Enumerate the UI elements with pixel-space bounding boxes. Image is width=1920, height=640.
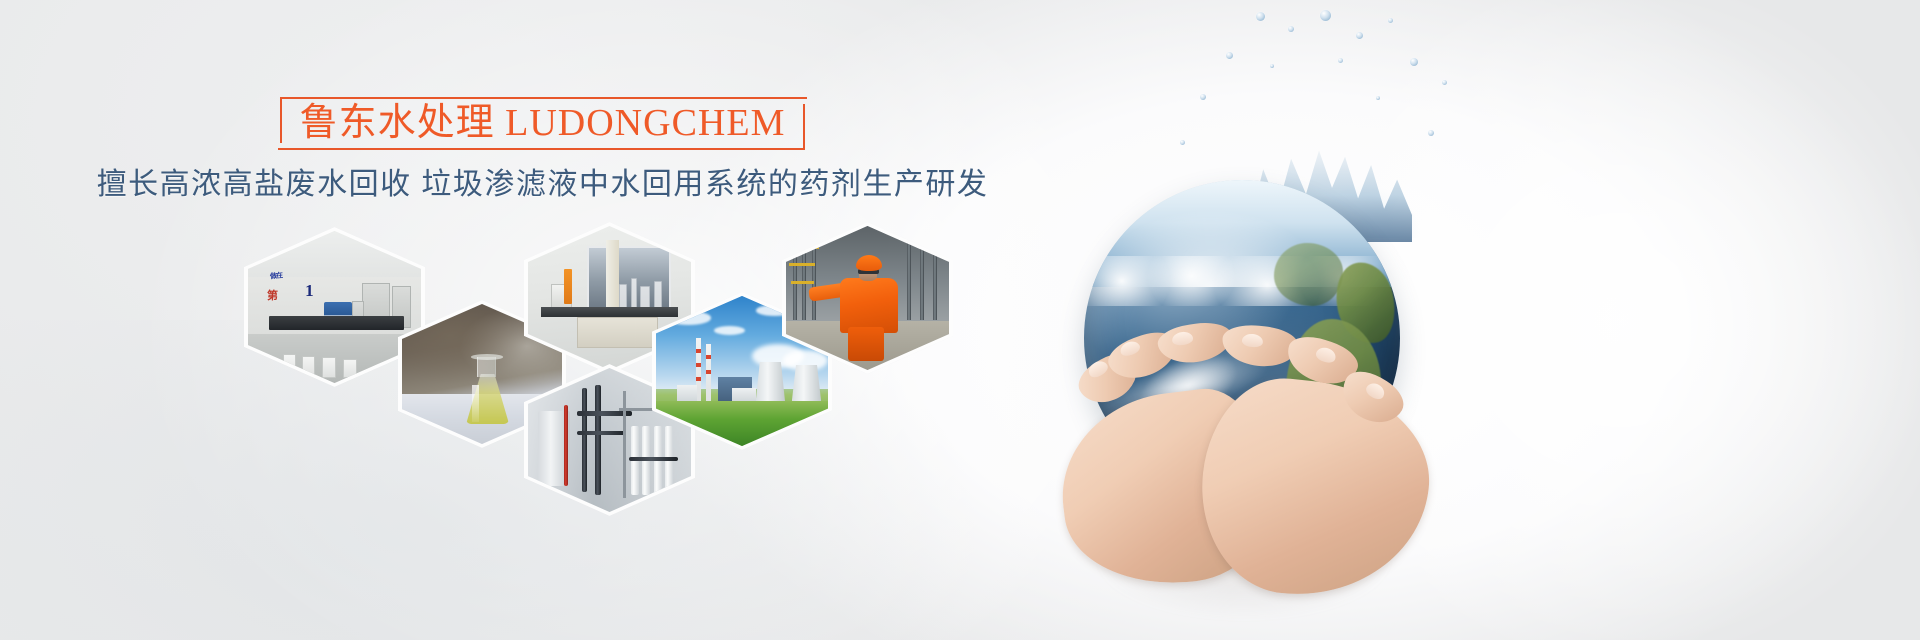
cupped-hands <box>1034 330 1464 640</box>
hexagon-photo-collage: 做在 第 1 <box>0 0 1085 640</box>
globe-landmass-north <box>1274 243 1344 306</box>
wall-slogan-bottom: 第 <box>267 287 277 303</box>
hex-photo-lab-slogan[interactable]: 做在 第 1 <box>244 227 425 387</box>
promo-banner: 鲁东水处理 LUDONGCHEM 擅长高浓高盐废水回收 垃圾渗滤液中水回用系统的… <box>0 0 1920 640</box>
water-globe-artwork <box>1010 0 1570 640</box>
wall-slogan-number: 1 <box>305 281 314 301</box>
wall-slogan-top: 做在 <box>270 270 283 281</box>
